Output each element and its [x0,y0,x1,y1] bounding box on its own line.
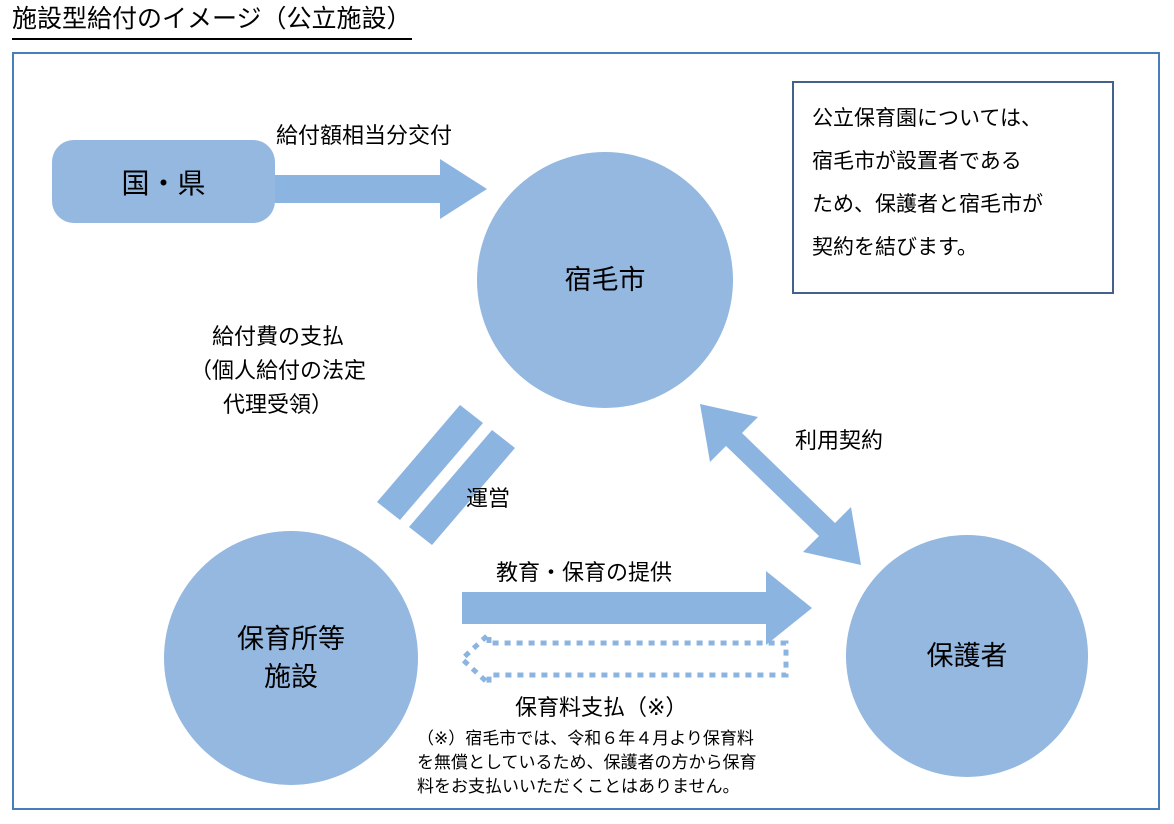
arrow-fee-dotted [462,634,786,684]
edge-label-operation: 運営 [466,483,510,514]
edge-label-fee: 保育料支払（※） [515,692,687,723]
note-line: ため、保護者と宿毛市が [812,183,1098,226]
note-line: 契約を結びます。 [812,226,1098,269]
note-line: 公立保育園については、 [812,97,1098,140]
node-facility-label: 保育所等 施設 [237,620,345,696]
node-national[interactable]: 国・県 [52,140,275,223]
edge-label-grant: 給付額相当分交付 [276,120,452,151]
node-facility[interactable]: 保育所等 施設 [164,531,418,785]
node-guardian[interactable]: 保護者 [846,535,1088,777]
edge-label-provide: 教育・保育の提供 [496,557,672,588]
edge-label-contract: 利用契約 [795,425,883,456]
bars-operation [377,405,515,545]
note-box: 公立保育園については、 宿毛市が設置者である ため、保護者と宿毛市が 契約を結び… [792,81,1114,294]
node-city[interactable]: 宿毛市 [477,152,733,408]
footnote-text: （※）宿毛市では、令和６年４月より保育料 を無償としているため、保護者の方から保… [417,727,837,799]
edge-label-payment: 給付費の支払 （個人給付の法定 代理受領） [190,320,366,422]
arrow-grant [268,159,487,219]
note-line: 宿毛市が設置者である [812,140,1098,183]
